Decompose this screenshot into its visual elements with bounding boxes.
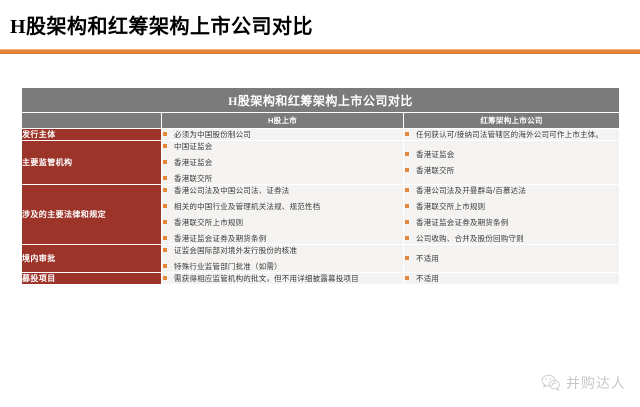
list-item: 香港联交所上市规则	[162, 217, 403, 228]
cell-h-shares-regulators: 中国证监会 香港证监会 香港联交所	[162, 141, 404, 185]
cell-h-shares-laws: 香港公司法及中国公司法、证券法 相关的中国行业及管理机关法规、规范性档 香港联交…	[162, 185, 404, 245]
page-title: H股架构和红筹架构上市公司对比	[10, 10, 313, 39]
bullet-list: 任何获认可/接纳司法管辖区的海外公司可作上市主体。	[404, 129, 619, 140]
table-row: 涉及的主要法律和规定 香港公司法及中国公司法、证券法 相关的中国行业及管理机关法…	[22, 185, 620, 245]
bullet-list: 需获得相应监管机构的批文，但不用详细披露募投项目	[162, 273, 403, 284]
list-item: 相关的中国行业及管理机关法规、规范性档	[162, 201, 403, 212]
title-divider	[0, 49, 640, 54]
list-item: 香港公司法及中国公司法、证券法	[162, 185, 403, 196]
table-row: 发行主体 必须为中国股份制公司 任何获认可/接纳司法管辖区的海外公司可作上市主体…	[22, 129, 620, 141]
cell-red-chip-use-of-proceeds: 不适用	[404, 273, 620, 285]
list-item: 香港证监会	[162, 157, 403, 168]
list-item: 必须为中国股份制公司	[162, 129, 403, 140]
watermark: 并购达人	[541, 373, 626, 393]
cell-h-shares-domestic-approval: 证监会国际部对境外发行股份的核准 特殊行业监管部门批准（如需）	[162, 245, 404, 273]
cell-red-chip-regulators: 香港证监会 香港联交所	[404, 141, 620, 185]
list-item: 香港证监会证券及期货条例	[404, 217, 619, 228]
table-row: 募投项目 需获得相应监管机构的批文，但不用详细披露募投项目 不适用	[22, 273, 620, 285]
list-item: 香港证监会	[404, 149, 619, 160]
bullet-list: 中国证监会 香港证监会 香港联交所	[162, 141, 403, 184]
list-item: 任何获认可/接纳司法管辖区的海外公司可作上市主体。	[404, 129, 619, 140]
list-item: 特殊行业监管部门批准（如需）	[162, 261, 403, 272]
wechat-icon	[541, 374, 561, 392]
list-item: 香港联交所上市规则	[404, 201, 619, 212]
row-label-domestic-approval: 境内审批	[22, 245, 162, 273]
bullet-list: 不适用	[404, 253, 619, 264]
list-item: 需获得相应监管机构的批文，但不用详细披露募投项目	[162, 273, 403, 284]
row-label-regulators: 主要监管机构	[22, 141, 162, 185]
cell-h-shares-issuer: 必须为中国股份制公司	[162, 129, 404, 141]
cell-red-chip-domestic-approval: 不适用	[404, 245, 620, 273]
table-caption: H股架构和红筹架构上市公司对比	[22, 88, 620, 113]
list-item: 香港公司法及开曼群岛/百慕达法	[404, 185, 619, 196]
cell-h-shares-use-of-proceeds: 需获得相应监管机构的批文，但不用详细披露募投项目	[162, 273, 404, 285]
bullet-list: 证监会国际部对境外发行股份的核准 特殊行业监管部门批准（如需）	[162, 245, 403, 272]
row-label-use-of-proceeds: 募投项目	[22, 273, 162, 285]
list-item: 证监会国际部对境外发行股份的核准	[162, 245, 403, 256]
list-item: 公司收购、合并及股份回购守则	[404, 233, 619, 244]
list-item: 中国证监会	[162, 141, 403, 152]
list-item: 香港证监会证券及期货条例	[162, 233, 403, 244]
list-item: 香港联交所	[162, 173, 403, 184]
list-item: 香港联交所	[404, 165, 619, 176]
watermark-text: 并购达人	[566, 373, 626, 393]
list-item: 不适用	[404, 253, 619, 264]
comparison-table-container: H股架构和红筹架构上市公司对比 H股上市 红筹架构上市公司 发行主体 必须为中国…	[21, 87, 619, 285]
table-row: 境内审批 证监会国际部对境外发行股份的核准 特殊行业监管部门批准（如需） 不适用	[22, 245, 620, 273]
row-label-laws: 涉及的主要法律和规定	[22, 185, 162, 245]
bullet-list: 不适用	[404, 273, 619, 284]
row-label-issuer: 发行主体	[22, 129, 162, 141]
cell-red-chip-issuer: 任何获认可/接纳司法管辖区的海外公司可作上市主体。	[404, 129, 620, 141]
bullet-list: 必须为中国股份制公司	[162, 129, 403, 140]
cell-red-chip-laws: 香港公司法及开曼群岛/百慕达法 香港联交所上市规则 香港证监会证券及期货条例 公…	[404, 185, 620, 245]
column-header-red-chip: 红筹架构上市公司	[404, 113, 620, 129]
bullet-list: 香港公司法及开曼群岛/百慕达法 香港联交所上市规则 香港证监会证券及期货条例 公…	[404, 185, 619, 244]
column-header-h-shares: H股上市	[162, 113, 404, 129]
table-header-row: H股上市 红筹架构上市公司	[22, 113, 620, 129]
bullet-list: 香港公司法及中国公司法、证券法 相关的中国行业及管理机关法规、规范性档 香港联交…	[162, 185, 403, 244]
table-caption-row: H股架构和红筹架构上市公司对比	[22, 88, 620, 113]
bullet-list: 香港证监会 香港联交所	[404, 149, 619, 176]
table-row: 主要监管机构 中国证监会 香港证监会 香港联交所 香港证监会 香港联交所	[22, 141, 620, 185]
slide-header: H股架构和红筹架构上市公司对比	[0, 0, 640, 56]
list-item: 不适用	[404, 273, 619, 284]
column-header-label	[22, 113, 162, 129]
comparison-table: H股架构和红筹架构上市公司对比 H股上市 红筹架构上市公司 发行主体 必须为中国…	[21, 87, 620, 285]
